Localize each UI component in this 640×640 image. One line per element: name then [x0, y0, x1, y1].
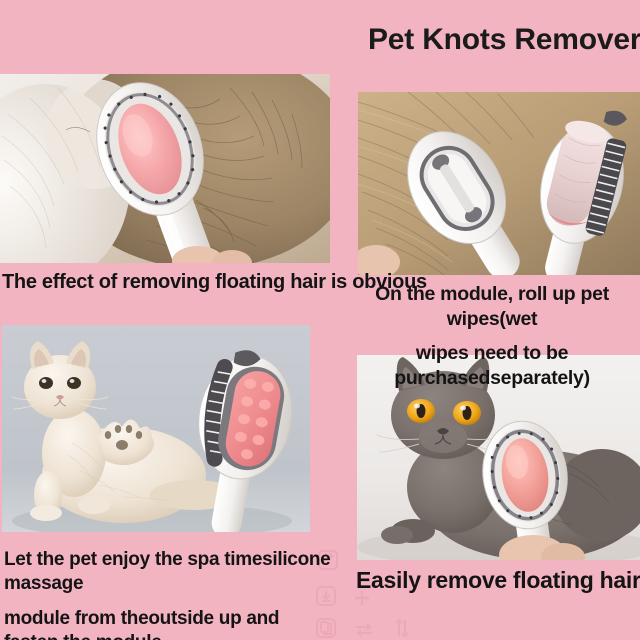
caption-bottom-right: Easily remove floating hair: [356, 566, 640, 595]
page-title: Pet Knots Remover: [368, 18, 636, 62]
product-infographic-poster: Pet Knots Remover: [0, 0, 640, 640]
brush-on-fur-photo: [0, 74, 330, 263]
caption-top-left: The effect of removing floating hair is …: [2, 270, 332, 296]
caption-bottom-left-line1: Let the pet enjoy the spa timesilicone m…: [4, 549, 330, 594]
caption-top-right-line1: On the module, roll up pet wipes(wet: [375, 283, 609, 330]
cat-with-brush-photo: [2, 325, 310, 532]
caption-top-right-line2: wipes need to be purchasedseparately): [344, 341, 640, 391]
caption-top-right: On the module, roll up pet wipes(wet wip…: [344, 282, 640, 391]
sort-vertical-icon: [390, 616, 414, 640]
module-and-wipe-photo: [358, 92, 640, 275]
caption-bottom-left: Let the pet enjoy the spa timesilicone m…: [4, 548, 334, 640]
caption-bottom-left-line2: module from theoutside up and fasten the…: [4, 607, 334, 640]
swap-horizontal-icon: [352, 618, 376, 640]
